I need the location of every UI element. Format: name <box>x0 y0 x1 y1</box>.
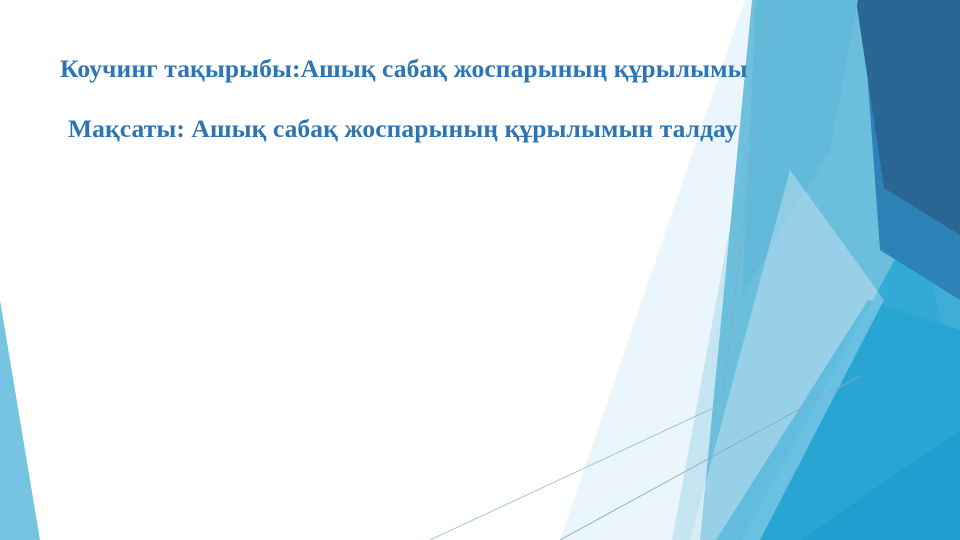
coaching-goal-line: Мақсаты: Ашық сабақ жоспарының құрылымын… <box>68 114 738 143</box>
coaching-topic-line: Коучинг тақырыбы:Ашық сабақ жоспарының қ… <box>60 54 748 83</box>
slide-canvas: Коучинг тақырыбы:Ашық сабақ жоспарының қ… <box>0 0 960 540</box>
slide-text-layer: Коучинг тақырыбы:Ашық сабақ жоспарының қ… <box>0 0 960 540</box>
